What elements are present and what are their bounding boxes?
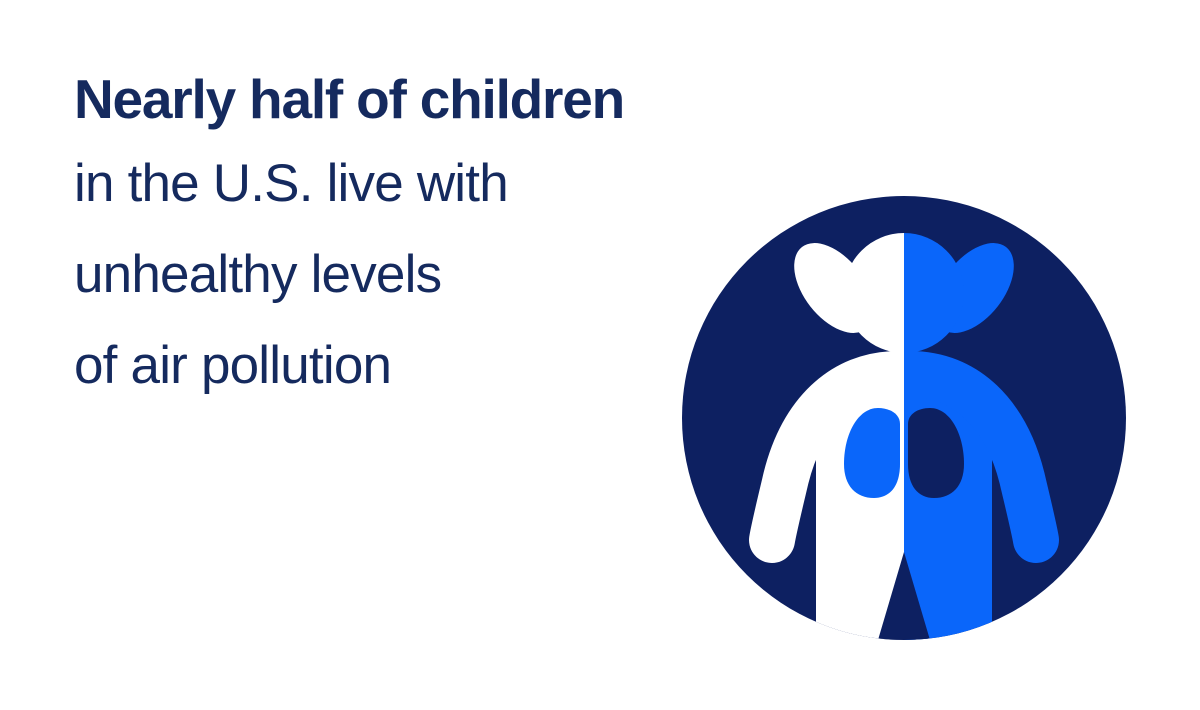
headline-block: Nearly half of children in the U.S. live… [74, 60, 734, 411]
headline-line-4: of air pollution [74, 320, 734, 411]
headline-line-1: Nearly half of children [74, 60, 734, 138]
child-with-lungs-icon [682, 196, 1126, 640]
infographic-canvas: Nearly half of children in the U.S. live… [0, 0, 1200, 710]
headline-line-3: unhealthy levels [74, 229, 734, 320]
headline-line-2: in the U.S. live with [74, 138, 734, 229]
